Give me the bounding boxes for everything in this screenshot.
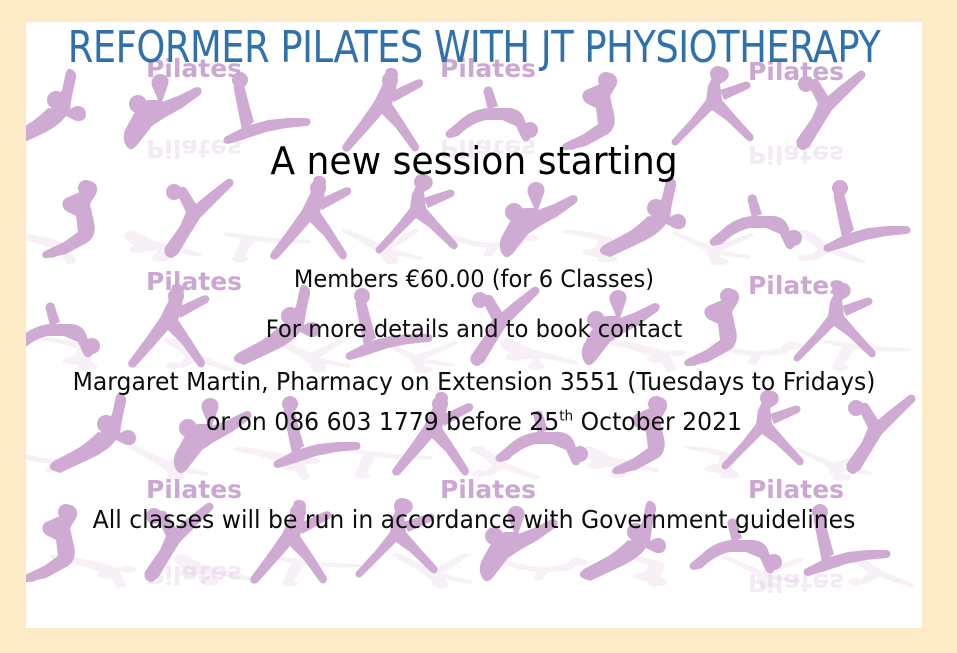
contact-line: Margaret Martin, Pharmacy on Extension 3… (53, 367, 895, 396)
page-title: REFORMER PILATES WITH JT PHYSIOTHERAPY (57, 22, 890, 76)
phone-suffix: October 2021 (573, 407, 742, 436)
phone-prefix: or on 086 603 1779 before 25 (206, 407, 559, 436)
date-ordinal-suffix: th (559, 409, 573, 425)
poster-board: Pilates Pilates Pilates Pilates Pilates … (26, 22, 922, 628)
subheading: A new session starting (48, 135, 899, 187)
poster-content: REFORMER PILATES WITH JT PHYSIOTHERAPY A… (26, 22, 922, 628)
details-line: For more details and to book contact (53, 315, 895, 343)
pilates-poster: Pilates Pilates Pilates Pilates Pilates … (0, 0, 957, 653)
price-line: Members €60.00 (for 6 Classes) (53, 265, 895, 293)
phone-line: or on 086 603 1779 before 25th October 2… (53, 407, 895, 436)
guidelines-line: All classes will be run in accordance wi… (53, 505, 895, 534)
